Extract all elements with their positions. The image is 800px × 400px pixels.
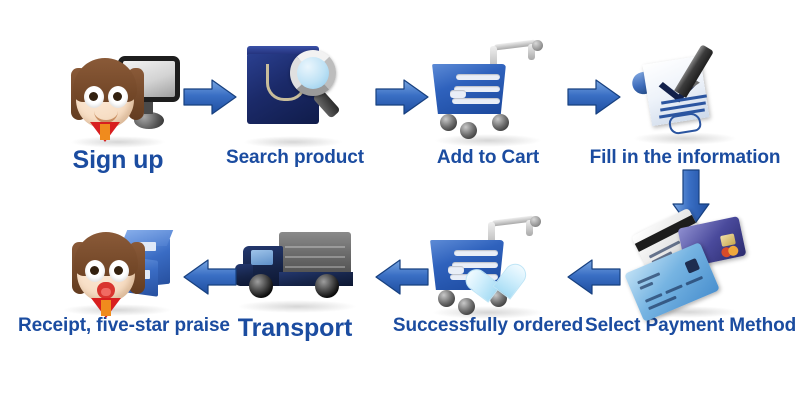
heart-icon [484,263,531,306]
shopping-bag-magnifier-icon [195,28,395,148]
step-label: Fill in the information [585,148,785,167]
step-fill-information[interactable]: Fill in the information [585,28,785,167]
step-label: Add to Cart [388,148,588,167]
step-add-to-cart[interactable]: Add to Cart [388,28,588,167]
step-search-product[interactable]: Search product [195,28,395,167]
happy-user-with-parcels-icon [18,212,218,316]
shopping-cart-icon [388,28,588,148]
form-with-pen-icon [585,28,785,148]
step-label: Select Payment Method [585,316,785,335]
step-label: Receipt, five-star praise [18,316,218,335]
step-label: Search product [195,148,395,167]
step-receipt-praise[interactable]: Receipt, five-star praise [18,212,218,335]
step-label: Sign up [18,148,218,173]
shopping-process-flow-diagram: Sign up Search product [0,0,800,400]
